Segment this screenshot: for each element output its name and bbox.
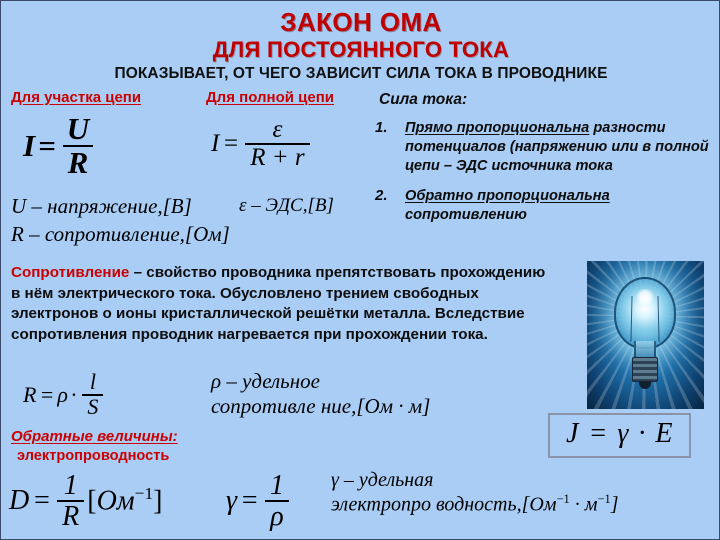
formula-resistivity-numerator: l xyxy=(85,371,101,394)
slide-canvas: ЗАКОН ОМА ДЛЯ ПОСТОЯННОГО ТОКА ПОКАЗЫВАЕ… xyxy=(0,0,720,540)
formula-conductivity: γ = 1 ρ xyxy=(226,471,292,531)
definition-emf: ε – ЭДС,[В] xyxy=(239,195,334,217)
definition-resistivity-line1: ρ – удельное xyxy=(211,369,430,394)
page-tagline: ПОКАЗЫВАЕТ, ОТ ЧЕГО ЗАВИСИТ СИЛА ТОКА В … xyxy=(1,65,720,83)
formula-current-density-gamma: γ xyxy=(617,418,628,449)
formula-current-density-dot: · xyxy=(635,418,648,449)
formula-resistivity: R = ρ · l S xyxy=(23,371,106,419)
list-item-text: Прямо пропорциональна разности потенциал… xyxy=(405,119,715,176)
formula-conductance-numerator: 1 xyxy=(59,471,83,500)
formula-current-density-box: J = γ · E xyxy=(548,413,691,458)
current-list: 1. Прямо пропорциональна разности потенц… xyxy=(375,119,715,236)
formula-ohm-full: I = ε R + r xyxy=(211,117,313,171)
definition-conductivity-end: ] xyxy=(611,493,619,515)
bulb-neck xyxy=(634,341,656,358)
unit-bracket-open: [ xyxy=(87,486,96,517)
definition-resistivity: ρ – удельное сопротивле ние,[Ом · м] xyxy=(211,369,430,419)
formula-ohm-full-lhs: I xyxy=(211,130,219,158)
formula-conductance-fraction: 1 R xyxy=(57,471,84,531)
formula-ohm-segment-numerator: U xyxy=(62,113,94,145)
formula-conductivity-lhs: γ xyxy=(226,485,237,517)
formula-conductivity-fraction: 1 ρ xyxy=(265,471,289,531)
formula-ohm-full-denominator: R + r xyxy=(245,143,309,171)
formula-resistivity-denominator: S xyxy=(82,394,103,419)
page-title: ЗАКОН ОМА xyxy=(1,7,720,38)
bulb-screw-base-icon xyxy=(632,357,658,382)
formula-conductance: D = 1 R [Ом−1] xyxy=(9,471,162,531)
formula-ohm-segment-denominator: R xyxy=(63,145,94,179)
resistance-keyword: Сопротивление xyxy=(11,264,129,281)
formula-ohm-segment-lhs: I xyxy=(23,128,35,164)
formula-conductivity-denominator: ρ xyxy=(265,500,288,531)
unit-bracket-close: ] xyxy=(153,486,162,517)
definition-conductivity-exp1: −1 xyxy=(557,492,570,506)
unit-base: Ом xyxy=(97,486,135,517)
definition-resistivity-line2: сопротивле ние,[Ом · м] xyxy=(211,394,430,419)
formula-resistivity-equals: = xyxy=(36,382,57,408)
formula-ohm-full-fraction: ε R + r xyxy=(245,117,309,171)
unit-exponent: −1 xyxy=(135,484,153,503)
list-item-text: Обратно пропорциональна сопротивлению xyxy=(405,187,715,225)
formula-resistivity-lhs: R xyxy=(23,382,36,408)
formula-ohm-full-equals: = xyxy=(219,130,242,158)
formula-conductance-unit: [Ом−1] xyxy=(87,484,162,517)
definition-resistance: R – сопротивление,[Ом] xyxy=(11,221,230,249)
formula-resistivity-dot: · xyxy=(68,382,80,408)
list-item: 1. Прямо пропорциональна разности потенц… xyxy=(375,119,715,176)
formula-conductivity-numerator: 1 xyxy=(265,471,289,500)
formula-conductance-equals: = xyxy=(29,485,54,517)
current-list-title: Сила тока: xyxy=(379,91,467,109)
definitions-left: U – напряжение,[В] R – сопротивление,[Ом… xyxy=(11,193,230,248)
formula-current-density-e: E xyxy=(655,418,672,449)
formula-conductance-lhs: D xyxy=(9,485,29,517)
column-header-full-circuit: Для полной цепи xyxy=(206,89,334,106)
formula-resistivity-rho: ρ xyxy=(57,382,68,408)
definition-conductivity-line2: электропро водность,[Ом−1 · м−1] xyxy=(331,492,619,516)
formula-ohm-segment-equals: = xyxy=(35,128,59,164)
formula-current-density-lhs: J xyxy=(566,418,578,449)
list-item-number: 2. xyxy=(375,187,405,225)
formula-conductivity-equals: = xyxy=(237,485,262,517)
formula-ohm-full-numerator: ε xyxy=(267,117,287,143)
definition-conductivity-text: электропро водность,[Ом xyxy=(331,493,557,515)
definition-conductivity-line1: γ – удельная xyxy=(331,469,619,492)
formula-resistivity-fraction: l S xyxy=(82,371,103,419)
inverse-quantities-subheading: электропроводность xyxy=(17,448,169,464)
definition-voltage: U – напряжение,[В] xyxy=(11,193,230,221)
light-bulb-image xyxy=(587,261,704,409)
formula-conductance-denominator: R xyxy=(57,500,84,531)
definition-conductivity: γ – удельная электропро водность,[Ом−1 ·… xyxy=(331,469,619,516)
column-header-segment: Для участка цепи xyxy=(11,89,141,106)
list-item: 2. Обратно пропорциональна сопротивлению xyxy=(375,187,715,225)
formula-ohm-segment: I = U R xyxy=(23,113,97,179)
resistance-paragraph: Сопротивление – свойство проводника преп… xyxy=(11,263,556,346)
inverse-quantities-heading: Обратные величины: xyxy=(11,428,178,445)
formula-current-density-equals: = xyxy=(585,418,610,449)
list-item-emphasis: Прямо пропорциональна xyxy=(405,120,589,136)
list-item-emphasis: Обратно пропорциональна xyxy=(405,188,610,204)
formula-ohm-segment-fraction: U R xyxy=(62,113,94,179)
definition-conductivity-mid: · м xyxy=(570,493,598,515)
definition-conductivity-exp2: −1 xyxy=(598,492,611,506)
page-subtitle-main: ДЛЯ ПОСТОЯННОГО ТОКА xyxy=(1,37,720,63)
list-item-body: сопротивлению xyxy=(405,207,527,223)
bulb-glow xyxy=(635,289,655,305)
list-item-number: 1. xyxy=(375,119,405,176)
